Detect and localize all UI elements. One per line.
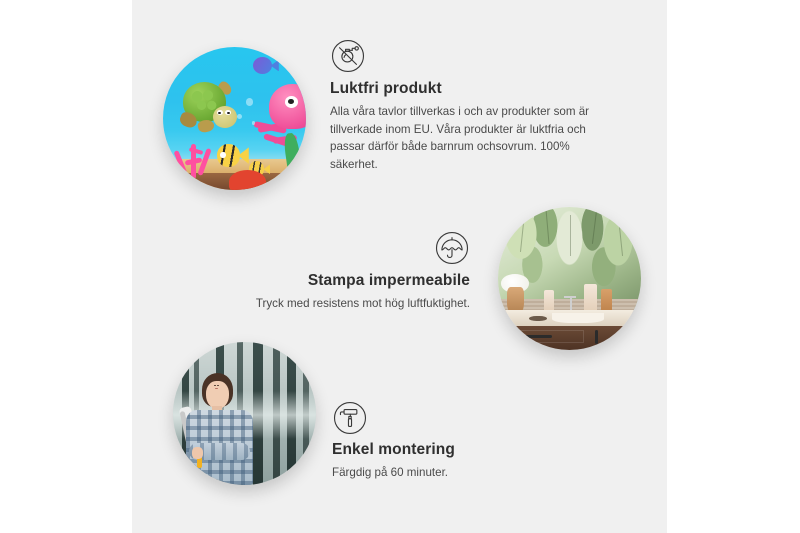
feature-body: Färgdig på 60 minuter. [332, 464, 582, 482]
feature-title: Luktfri produkt [330, 80, 630, 98]
product-image-aquatic-mural [163, 47, 306, 190]
aquatic-scene [163, 47, 306, 190]
feature-body: Tryck med resistens mot hög luftfuktighe… [222, 295, 470, 313]
striped-fish-large [217, 144, 248, 167]
octopus [252, 84, 306, 147]
blue-fish [253, 57, 279, 74]
sink-basin [552, 313, 603, 323]
crab [229, 170, 266, 190]
product-image-bathroom-leaf-wallpaper [498, 207, 641, 350]
feature-title: Stampa impermeabile [222, 272, 470, 290]
product-image-installer-forest [173, 342, 316, 485]
feature-title: Enkel montering [332, 441, 582, 459]
feature-odour-free: Luktfri produkt Alla våra tavlor tillver… [330, 38, 630, 173]
feature-waterproof: Stampa impermeabile Tryck med resistens … [222, 230, 470, 313]
coral [170, 130, 219, 179]
bathroom-scene [498, 207, 641, 350]
installer-scene [173, 342, 316, 485]
sea-turtle [179, 81, 245, 135]
wood-vanity [498, 326, 641, 350]
installer-person [182, 373, 259, 485]
promo-canvas: Luktfri produkt Alla våra tavlor tillver… [0, 0, 800, 533]
paint-roller-icon [332, 400, 368, 436]
umbrella-icon [434, 230, 470, 266]
feature-easy-mounting: Enkel montering Färgdig på 60 minuter. [332, 400, 582, 482]
no-odour-perfume-bottle-icon [330, 38, 366, 74]
feature-body: Alla våra tavlor tillverkas i och av pro… [330, 103, 618, 173]
